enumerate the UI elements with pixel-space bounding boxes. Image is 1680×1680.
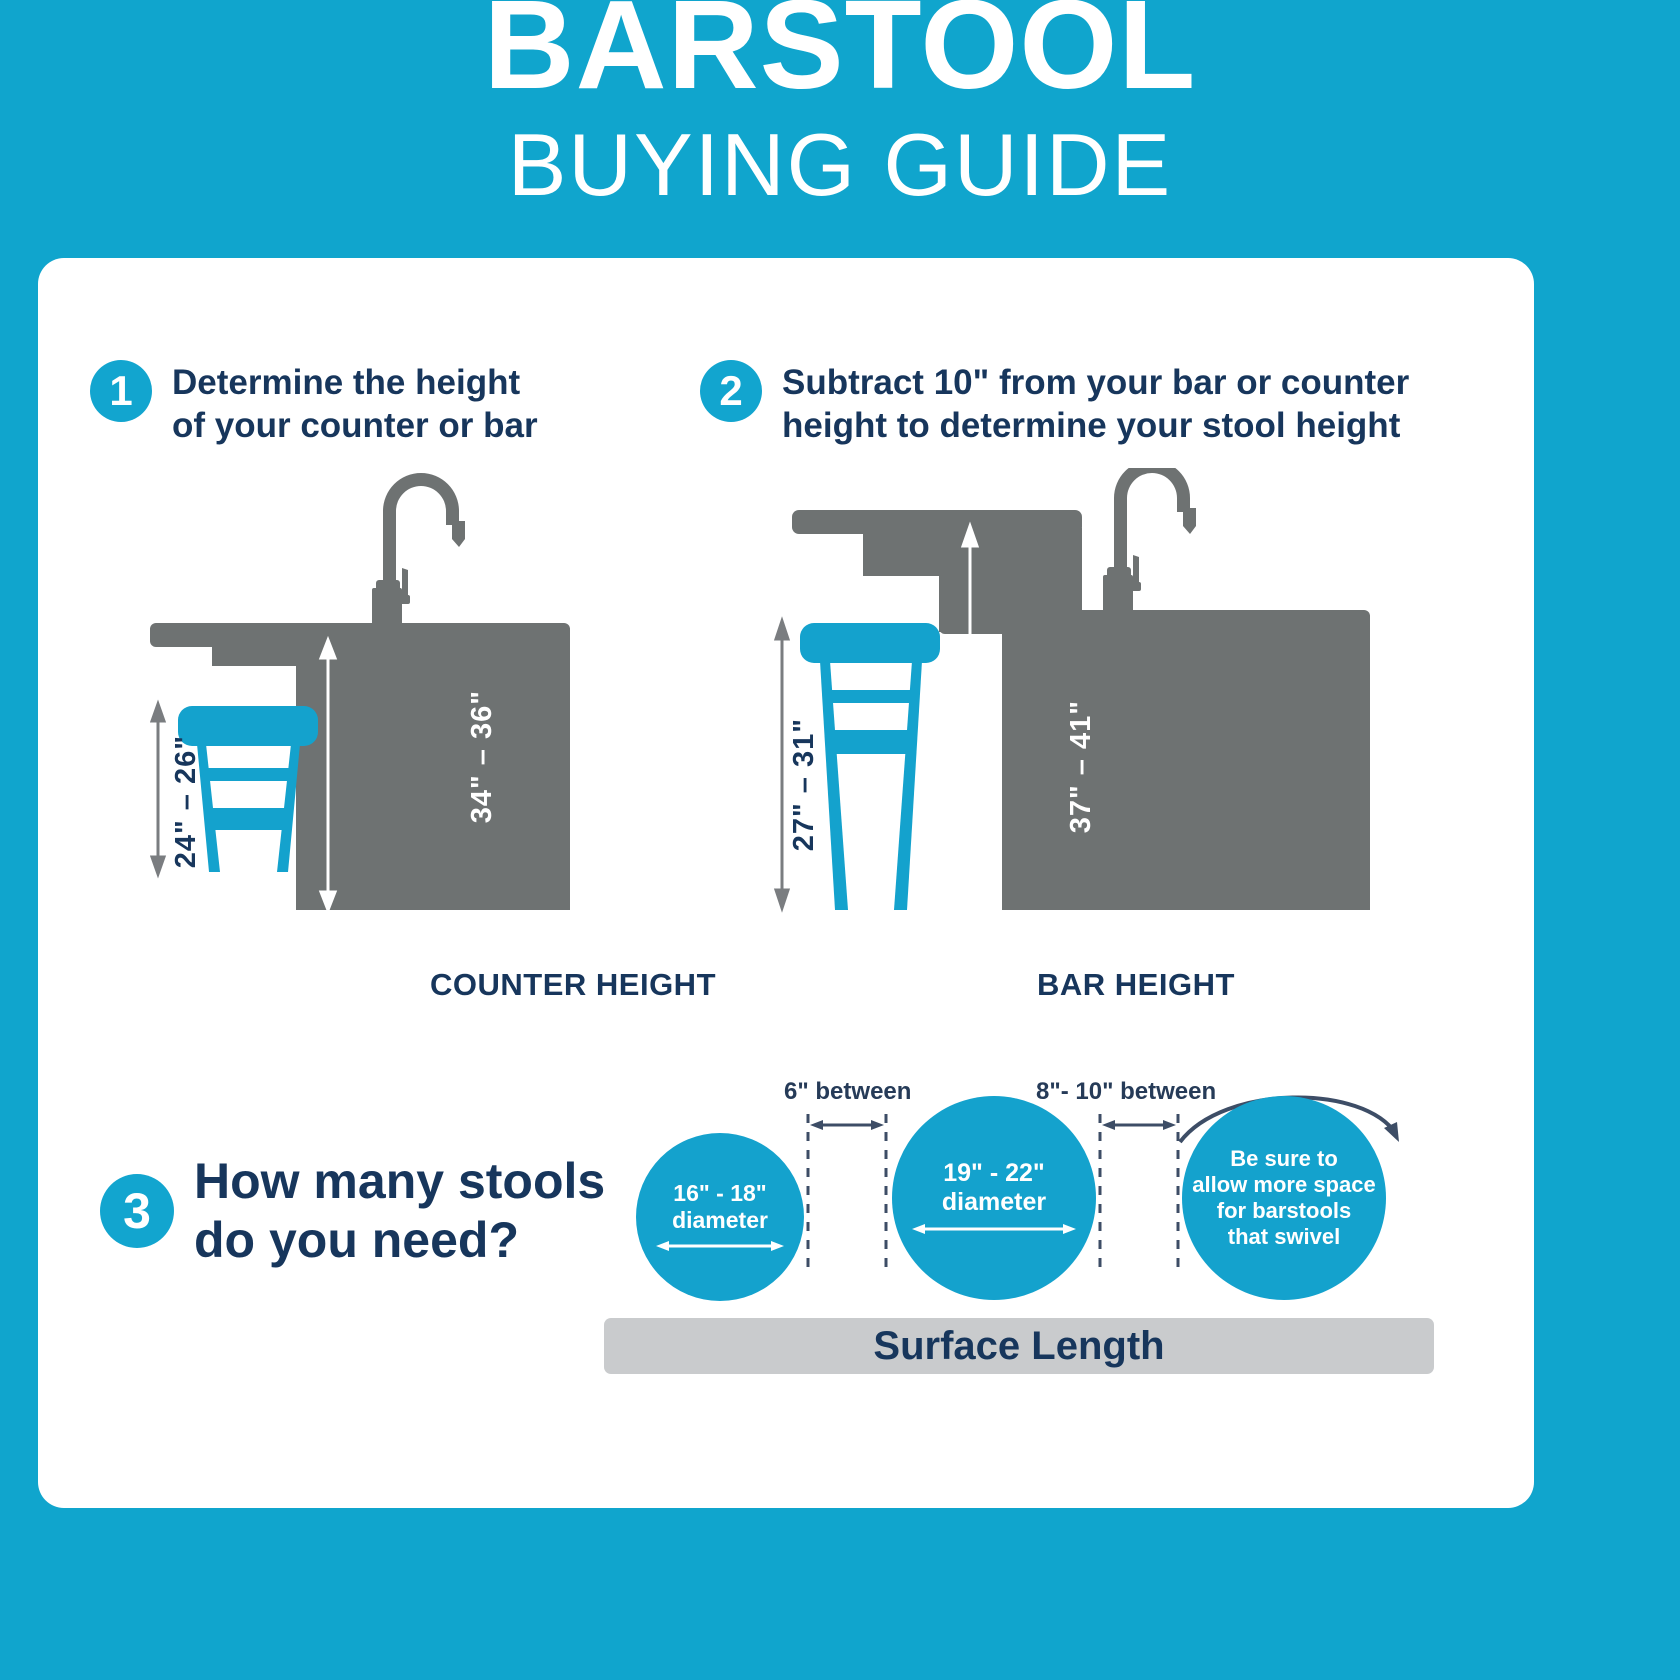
bar-height-caption: BAR HEIGHT [1037,967,1235,1003]
step-2: 2 Subtract 10" from your bar or counter … [700,360,1409,447]
page-title-secondary: BUYING GUIDE [0,114,1680,215]
counter-height-caption: COUNTER HEIGHT [430,967,716,1003]
surface-length-bar: Surface Length [604,1318,1434,1374]
step-number-badge-3: 3 [100,1174,174,1248]
counter-cabinet [296,640,570,910]
stool-circle-large: 19" - 22" diameter [892,1096,1096,1300]
step-number-badge-2: 2 [700,360,762,422]
faucet-icon [372,473,465,626]
stool-circle-small: 16" - 18" diameter [636,1133,804,1301]
swivel-note-line-4: that swivel [1228,1224,1340,1250]
bar-surface-dimension: 37" – 41" [1065,700,1098,833]
step-2-line-2: height to determine your stool height [782,405,1409,448]
step-1-line-1: Determine the height [172,362,538,405]
diameter-arrow-icon [654,1238,786,1254]
counter-surface-dimension: 34" – 36" [466,690,499,823]
step-2-line-1: Subtract 10" from your bar or counter [782,362,1409,405]
step-3-line-2: do you need? [194,1211,605,1270]
bar-stool-height-arrow [776,621,788,908]
page-title-primary: BARSTOOL [0,0,1680,108]
step-number-badge-1: 1 [90,360,152,422]
swivel-note-line-3: for barstools [1217,1198,1351,1224]
page-header: BARSTOOL BUYING GUIDE [0,0,1680,215]
stool-circle-swivel-note: Be sure to allow more space for barstool… [1182,1096,1386,1300]
stool-spacing-diagram: 6" between 8"- 10" between 16" - 18" dia… [604,1078,1434,1318]
surface-length-label: Surface Length [873,1324,1164,1369]
step-3-text: How many stools do you need? [194,1152,605,1270]
stool-height-arrow [152,704,164,874]
faucet-icon [1103,468,1196,613]
stool-circle-large-size: 19" - 22" [943,1159,1045,1188]
stool-circle-small-size: 16" - 18" [673,1180,766,1207]
step-2-text: Subtract 10" from your bar or counter he… [782,360,1409,447]
counter-stool-dimension: 24" – 26" [170,735,203,868]
step-3-line-1: How many stools [194,1152,605,1211]
step-1: 1 Determine the height of your counter o… [90,360,538,447]
diameter-arrow-icon [910,1221,1078,1237]
bar-stool-icon [800,623,940,910]
step-3: 3 How many stools do you need? [100,1152,605,1270]
swivel-note-line-2: allow more space [1192,1172,1375,1198]
bar-cabinet [1002,628,1370,910]
step-1-line-2: of your counter or bar [172,405,538,448]
bar-stool-dimension: 27" – 31" [788,718,821,851]
stool-circle-large-unit: diameter [942,1188,1046,1217]
stool-circle-small-unit: diameter [672,1207,768,1234]
counter-height-diagram [150,468,750,988]
step-1-text: Determine the height of your counter or … [172,360,538,447]
swivel-note-line-1: Be sure to [1230,1146,1338,1172]
